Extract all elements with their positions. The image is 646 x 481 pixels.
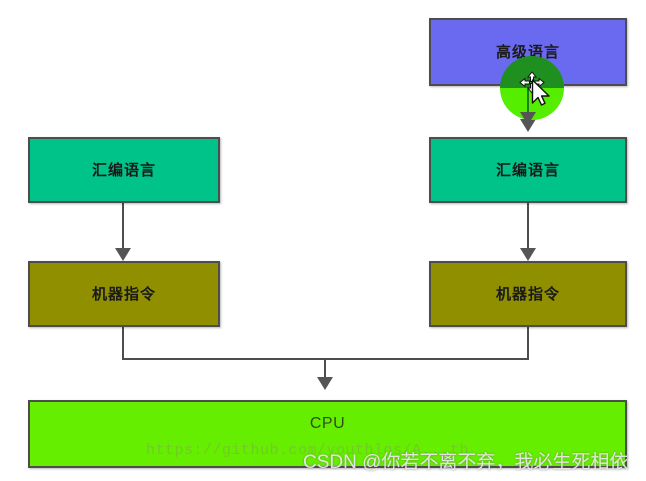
connector-merge-to-cpu-arrowhead [317, 377, 333, 390]
node-assembly-left[interactable]: 汇编语言 [28, 137, 220, 203]
node-machine-right-label: 机器指令 [496, 287, 560, 302]
connector-machine-left-down [122, 327, 124, 360]
connector-assembly-right-to-machine-right-stem [527, 203, 529, 254]
connector-assembly-left-to-machine-left-arrowhead [115, 248, 131, 261]
connector-highlevel-arrowhead-overlay [520, 112, 536, 125]
node-assembly-left-label: 汇编语言 [92, 163, 156, 178]
node-high-level-language-label: 高级语言 [496, 45, 560, 60]
node-assembly-right-label: 汇编语言 [496, 163, 560, 178]
connector-assembly-left-to-machine-left-stem [122, 203, 124, 254]
node-cpu[interactable]: CPU [28, 400, 627, 468]
diagram-canvas: 高级语言 汇编语言 汇编语言 机器指令 [0, 0, 646, 481]
node-machine-left[interactable]: 机器指令 [28, 261, 220, 327]
node-cpu-label: CPU [310, 416, 345, 432]
node-assembly-right[interactable]: 汇编语言 [429, 137, 627, 203]
node-high-level-language[interactable]: 高级语言 [429, 18, 627, 86]
node-machine-left-label: 机器指令 [92, 287, 156, 302]
connector-machine-right-down [527, 327, 529, 360]
node-machine-right[interactable]: 机器指令 [429, 261, 627, 327]
connector-assembly-right-to-machine-right-arrowhead [520, 248, 536, 261]
